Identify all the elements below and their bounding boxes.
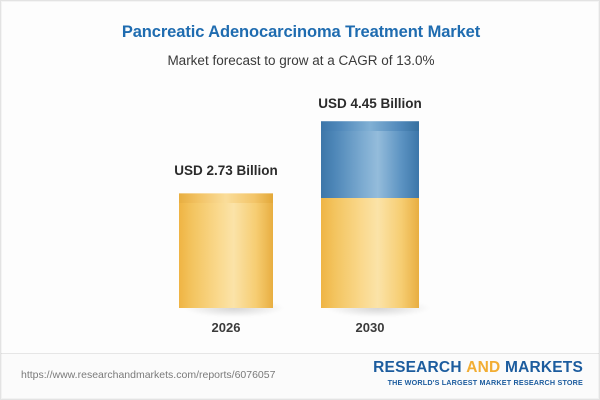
category-label-2026: 2026 — [146, 320, 306, 335]
bar-body — [321, 198, 419, 308]
footer: https://www.researchandmarkets.com/repor… — [1, 354, 600, 400]
brand-logo[interactable]: RESEARCH AND MARKETS THE WORLD'S LARGEST… — [373, 360, 583, 386]
value-label-2026: USD 2.73 Billion — [126, 163, 326, 178]
bar-2026[interactable] — [179, 193, 273, 308]
bar-bottom-cap — [179, 298, 273, 318]
brand-word-research: RESEARCH — [373, 359, 462, 376]
bar-2030[interactable] — [321, 121, 419, 308]
category-label-2030: 2030 — [290, 320, 450, 335]
brand-name: RESEARCH AND MARKETS — [373, 360, 583, 376]
bar-bottom-cap — [321, 298, 419, 318]
brand-word-markets: MARKETS — [505, 359, 583, 376]
bar-segment-base — [321, 198, 419, 308]
brand-tagline: THE WORLD'S LARGEST MARKET RESEARCH STOR… — [373, 379, 583, 386]
bar-segment-base — [179, 203, 273, 308]
plot-area: USD 2.73 Billion USD 4.45 Billion — [1, 1, 600, 349]
bar-body — [179, 203, 273, 308]
report-url[interactable]: https://www.researchandmarkets.com/repor… — [21, 369, 275, 381]
value-label-2030: USD 4.45 Billion — [270, 96, 470, 111]
bar-segment-growth — [321, 131, 419, 198]
chart-card: Pancreatic Adenocarcinoma Treatment Mark… — [0, 0, 600, 400]
brand-word-and: AND — [466, 359, 500, 376]
bar-body — [321, 131, 419, 198]
